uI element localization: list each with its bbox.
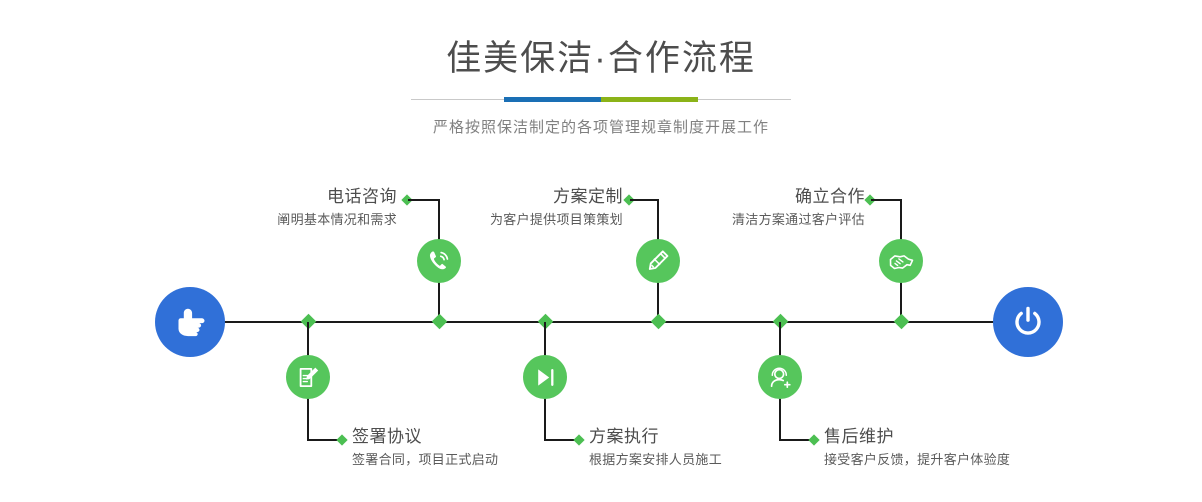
phone-call-icon	[426, 248, 452, 274]
step-desc: 阐明基本情况和需求	[277, 210, 397, 230]
connector-h-top-3	[871, 199, 901, 201]
step-icon-bubble-bottom-1[interactable]	[286, 355, 330, 399]
step-title: 售后维护	[824, 426, 1010, 448]
timeline: 电话咨询 阐明基本情况和需求 方案定制 为客户提供项目策策划	[0, 0, 1202, 502]
timeline-end-endpoint[interactable]	[993, 287, 1063, 357]
step-desc: 为客户提供项目策策划	[490, 210, 623, 230]
sign-document-icon	[296, 365, 321, 390]
connector-h-top-2	[630, 199, 658, 201]
timeline-start-endpoint[interactable]	[155, 287, 225, 357]
pencil-edit-icon	[645, 248, 671, 274]
customer-service-icon	[768, 365, 793, 390]
step-title: 签署协议	[352, 426, 498, 448]
axis-node-top-3	[894, 314, 910, 330]
step-desc: 根据方案安排人员施工	[589, 450, 722, 470]
step-label-bottom-1: 签署协议 签署合同，项目正式启动	[352, 426, 498, 470]
axis-node-top-1	[432, 314, 448, 330]
play-execute-icon	[533, 365, 558, 390]
step-desc: 接受客户反馈，提升客户体验度	[824, 450, 1010, 470]
step-label-top-2: 方案定制 为客户提供项目策策划	[490, 186, 623, 230]
step-label-marker-bottom-3	[808, 434, 819, 445]
step-title: 方案定制	[490, 186, 623, 208]
cooperation-process-infographic: 佳美保洁·合作流程 严格按照保洁制定的各项管理规章制度开展工作	[0, 0, 1202, 502]
step-title: 方案执行	[589, 426, 722, 448]
step-label-top-1: 电话咨询 阐明基本情况和需求	[277, 186, 397, 230]
step-title: 确立合作	[732, 186, 865, 208]
step-label-marker-bottom-2	[573, 434, 584, 445]
connector-h-top-1	[408, 199, 439, 201]
step-label-bottom-2: 方案执行 根据方案安排人员施工	[589, 426, 722, 470]
step-title: 电话咨询	[277, 186, 397, 208]
step-icon-bubble-bottom-2[interactable]	[523, 355, 567, 399]
step-label-bottom-3: 售后维护 接受客户反馈，提升客户体验度	[824, 426, 1010, 470]
power-button-icon	[1008, 302, 1048, 342]
step-icon-bubble-top-3[interactable]	[879, 239, 923, 283]
step-icon-bubble-top-2[interactable]	[636, 239, 680, 283]
pointing-hand-icon	[171, 303, 209, 341]
step-desc: 清洁方案通过客户评估	[732, 210, 865, 230]
step-label-top-3: 确立合作 清洁方案通过客户评估	[732, 186, 865, 230]
axis-node-top-2	[651, 314, 667, 330]
step-icon-bubble-top-1[interactable]	[417, 239, 461, 283]
handshake-icon	[888, 248, 915, 275]
step-icon-bubble-bottom-3[interactable]	[758, 355, 802, 399]
step-desc: 签署合同，项目正式启动	[352, 450, 498, 470]
step-label-marker-bottom-1	[336, 434, 347, 445]
